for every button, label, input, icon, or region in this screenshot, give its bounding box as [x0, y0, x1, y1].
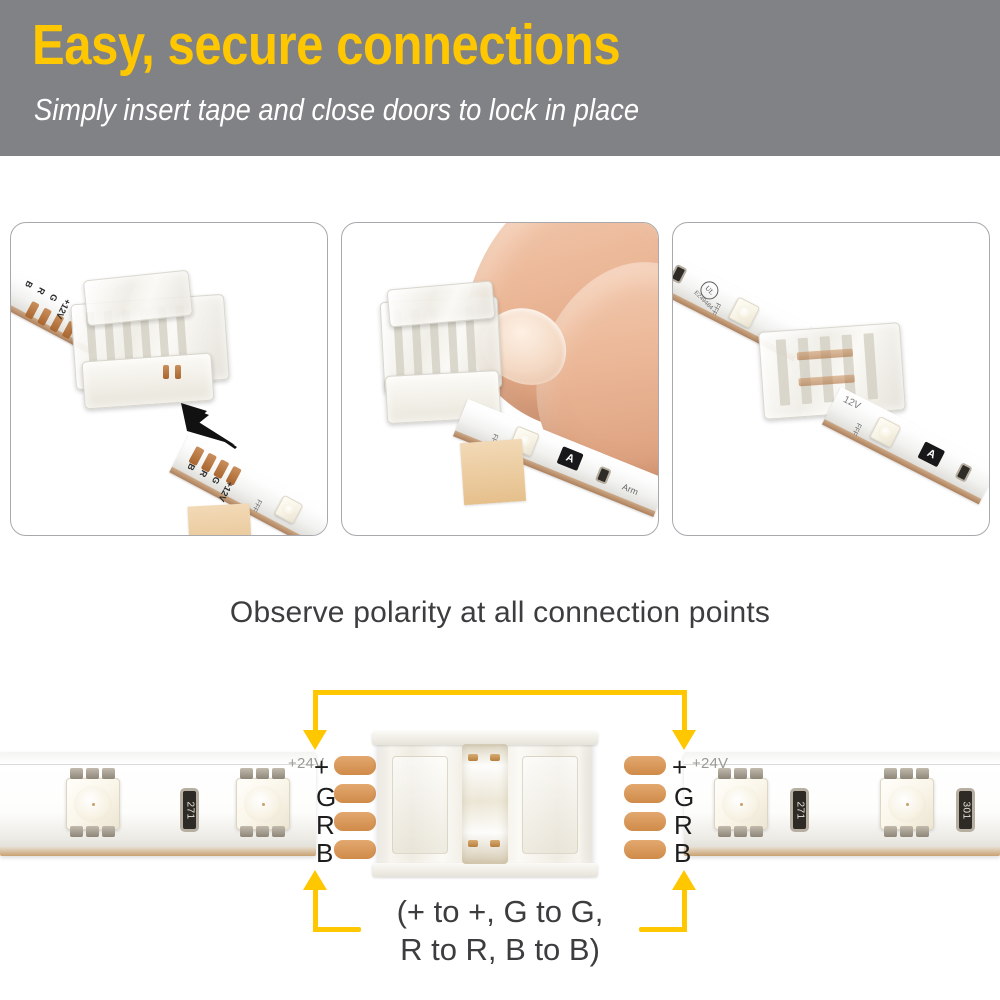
- connector-rib: [863, 333, 878, 400]
- led-pin: [884, 826, 897, 837]
- resistor-code: 271: [184, 801, 195, 819]
- adhesive-tape: [460, 439, 526, 505]
- insertion-arrow-icon: [179, 401, 239, 449]
- led-chip: [880, 778, 934, 830]
- connector-contact: [490, 754, 500, 761]
- right-voltage-label: +24V: [692, 755, 728, 772]
- resistor: [595, 466, 612, 485]
- led-pin: [272, 826, 285, 837]
- connector-contact: [468, 754, 478, 761]
- brand-text: Arm: [621, 482, 640, 497]
- connector-rib: [820, 336, 835, 403]
- led-pin: [750, 826, 763, 837]
- bottom-right-arrow-icon: [672, 870, 696, 890]
- led-chip: [274, 495, 304, 525]
- polarity-caption-line-2: R to R, B to B): [0, 931, 1000, 969]
- brand-badge: A: [557, 446, 584, 471]
- left-pin-label-r: R: [316, 812, 335, 838]
- header-banner: Easy, secure connections Simply insert t…: [0, 0, 1000, 156]
- polarity-caption-line-1: (+ to +, G to G,: [0, 893, 1000, 931]
- led-center-dot: [906, 803, 909, 806]
- strip-micro-text: FFF: [250, 498, 262, 513]
- resistor: [672, 264, 688, 285]
- right-contact-pad-b: [624, 840, 666, 859]
- right-contact-pad-r: [624, 812, 666, 831]
- resistor: 271: [180, 788, 199, 832]
- led-pin: [916, 768, 929, 779]
- led-pin: [256, 826, 269, 837]
- contact-pad: [25, 301, 40, 320]
- connector-contact: [490, 840, 500, 847]
- connector-contact: [175, 365, 181, 379]
- close-door-panel: FFF A Arm: [341, 222, 659, 536]
- top-bracket-horizontal: [313, 690, 687, 695]
- contact-pad: [37, 307, 52, 326]
- led-pin: [718, 826, 731, 837]
- resistor: 271: [790, 788, 809, 832]
- led-chip: [66, 778, 120, 830]
- led-center-dot: [92, 803, 95, 806]
- insert-tape-panel: +12V G R B B R G +12V FFF: [10, 222, 328, 536]
- led-strip-left-detail: 271: [0, 752, 316, 856]
- led-pin: [86, 826, 99, 837]
- connector-contact: [468, 840, 478, 847]
- led-pin: [102, 768, 115, 779]
- left-contact-pad-b: [334, 840, 376, 859]
- left-contact-pad-plus: [334, 756, 376, 775]
- strip-copper-edge: [822, 419, 981, 504]
- strip-micro-text: FFF: [850, 422, 862, 437]
- top-bracket-left-vertical: [313, 690, 318, 732]
- connector-contact: [163, 365, 169, 379]
- polarity-caption: (+ to +, G to G, R to R, B to B): [0, 893, 1000, 969]
- right-contact-pad-g: [624, 784, 666, 803]
- top-left-arrow-icon: [303, 730, 327, 750]
- top-bracket-right-vertical: [682, 690, 687, 732]
- led-pin: [70, 826, 83, 837]
- strip-label-voltage: 12V: [841, 394, 862, 412]
- left-contact-pad-g: [334, 784, 376, 803]
- connector-bottom-flange: [372, 863, 598, 877]
- led-pin: [900, 826, 913, 837]
- connector-top-flange: [372, 731, 598, 745]
- connector-right-slot: [522, 756, 578, 854]
- led-chip: [869, 416, 901, 448]
- led-pin: [256, 768, 269, 779]
- photo-panel-row: +12V G R B B R G +12V FFF: [10, 222, 990, 534]
- led-chip: [714, 778, 768, 830]
- strip-to-strip-connector: [378, 738, 592, 870]
- led-pin: [70, 768, 83, 779]
- top-right-arrow-icon: [672, 730, 696, 750]
- adhesive-tape: [187, 503, 252, 536]
- connector-center-contacts: [462, 744, 508, 864]
- right-pin-label-b: B: [674, 840, 691, 866]
- led-pin: [272, 768, 285, 779]
- left-pin-label-plus: +: [314, 754, 329, 780]
- led-strip-right-detail: 271 301: [684, 752, 1000, 856]
- resistor: 301: [956, 788, 975, 832]
- led-pin: [750, 768, 763, 779]
- observe-polarity-heading: Observe polarity at all connection point…: [0, 596, 1000, 630]
- page-subtitle: Simply insert tape and close doors to lo…: [34, 92, 639, 128]
- completed-connection-panel: UL E249484 FFF 12V FFF A: [672, 222, 990, 536]
- led-pin: [734, 768, 747, 779]
- strip-label-g: G: [47, 292, 59, 303]
- right-contact-pad-plus: [624, 756, 666, 775]
- led-pin: [240, 826, 253, 837]
- connector-rib: [798, 338, 813, 405]
- strip-label-r: R: [35, 286, 47, 296]
- led-pin: [900, 768, 913, 779]
- led-pin: [884, 768, 897, 779]
- led-pin: [86, 768, 99, 779]
- left-pin-label-g: G: [316, 784, 336, 810]
- strip-micro-text: FFF: [709, 301, 721, 316]
- led-pin: [916, 826, 929, 837]
- led-strip-right: 12V FFF A: [822, 387, 990, 504]
- connector-rib: [776, 339, 791, 406]
- led-pin: [240, 768, 253, 779]
- led-center-dot: [740, 803, 743, 806]
- left-contact-pad-r: [334, 812, 376, 831]
- connector-left-slot: [392, 756, 448, 854]
- right-pin-label-r: R: [674, 812, 693, 838]
- resistor-code: 301: [960, 801, 971, 819]
- led-chip: [236, 778, 290, 830]
- bottom-left-arrow-icon: [303, 870, 327, 890]
- led-center-dot: [262, 803, 265, 806]
- right-pin-label-plus: +: [672, 754, 687, 780]
- brand-badge: A: [917, 441, 945, 467]
- resistor-code: 271: [794, 801, 805, 819]
- resistor: [954, 462, 972, 483]
- left-pin-label-b: B: [316, 840, 333, 866]
- strip-label-b: B: [23, 279, 35, 289]
- led-pin: [734, 826, 747, 837]
- right-pin-label-g: G: [674, 784, 694, 810]
- page-title: Easy, secure connections: [32, 14, 620, 76]
- led-pin: [102, 826, 115, 837]
